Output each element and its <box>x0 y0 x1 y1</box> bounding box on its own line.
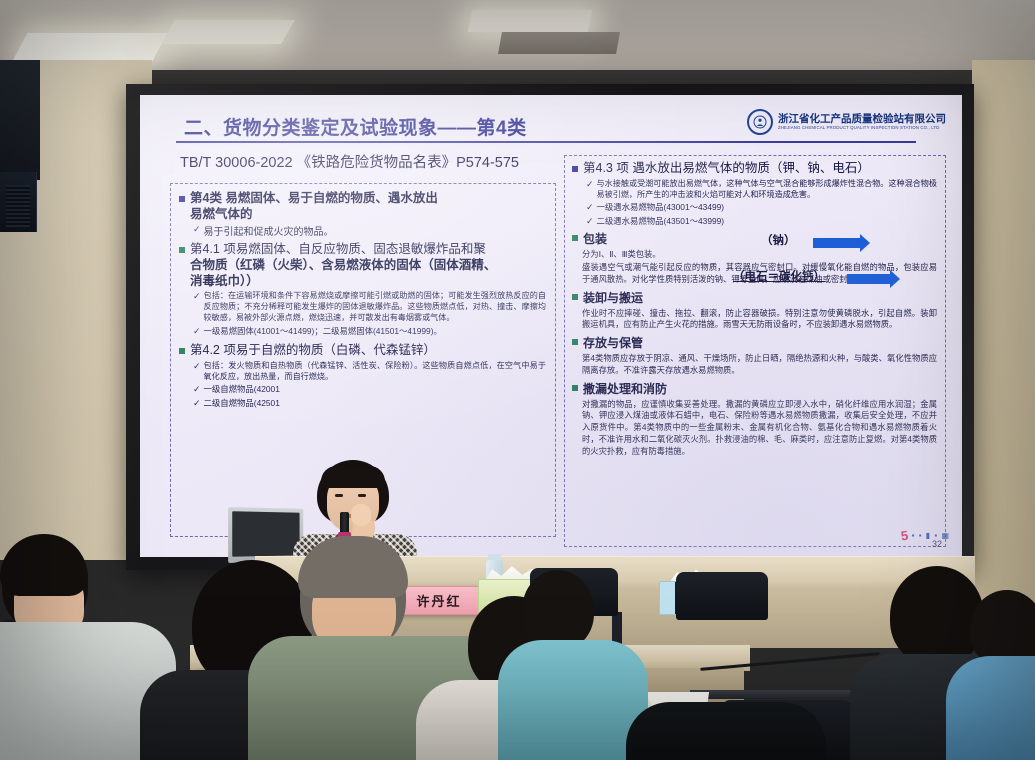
company-emblem-icon <box>747 109 773 135</box>
arrow-right-icon <box>813 238 861 248</box>
item-42-detail-row: ✓ 包括：发火物质和自热物质（代森锰锌、活性炭、保险粉）。这些物质自燃点低，在空… <box>193 360 546 382</box>
title-underline <box>176 141 916 143</box>
company-name-en: ZHEJIANG CHEMICAL PRODUCT QUALITY INSPEC… <box>778 125 946 130</box>
person-hair-grey <box>298 536 408 598</box>
spill-heading-row: 撒漏处理和消防 <box>572 380 937 397</box>
speaker-grill-icon <box>6 185 30 227</box>
presenter-hand <box>351 504 371 526</box>
item-43-code1: 一级遇水易燃物品(43001～43499) <box>597 201 725 214</box>
class4-heading-line2: 易燃气体的 <box>190 207 438 223</box>
item-41-heading-row: 第4.1 项易燃固体、自反应物质、固态退敏爆炸品和聚 合物质（红磷（火柴）、含易… <box>179 242 546 289</box>
storage-text: 第4类物质应存放于阴凉、通风、干燥场所，防止日晒，隔绝热源和火种，与酸类、氧化性… <box>582 353 937 377</box>
item-41-line2: 合物质（红磷（火柴）、含易燃液体的固体（固体酒精、 <box>190 258 496 274</box>
item-42-heading-row: 第4.2 项易于自燃的物质（白磷、代森锰锌） <box>179 343 546 359</box>
checkmark-icon: ✓ <box>586 215 594 228</box>
handling-text: 作业时不应摔碰、撞击、拖拉、翻滚，防止容器破损。特别注意勿使黄磷脱水，引起自燃。… <box>582 308 937 332</box>
item-43-detail: 与水接触或受潮可能放出易燃气体，这种气体与空气混合能够形成爆炸性混合物。这种混合… <box>597 178 937 200</box>
item-43-detail-row: ✓ 与水接触或受潮可能放出易燃气体，这种气体与空气混合能够形成爆炸性混合物。这种… <box>586 178 937 200</box>
handling-heading: 装卸与搬运 <box>583 289 643 306</box>
person-shirt-dark <box>626 702 826 760</box>
spill-heading: 撒漏处理和消防 <box>583 380 667 397</box>
classroom-photo: 二、货物分类鉴定及试验现象——第4类 浙江省化工产品质量检验站有限公司 ZHEJ… <box>0 0 1035 760</box>
item-42-heading: 第4.2 项易于自燃的物质（白磷、代森锰锌） <box>190 343 436 359</box>
audience-member <box>626 692 806 760</box>
square-bullet-icon <box>179 196 185 202</box>
item-42-code1: 一级自燃物品(42001 <box>204 383 280 396</box>
item-43-code2: 二级遇水易燃物品(43501～43999) <box>597 215 725 228</box>
checkmark-icon: ✓ <box>586 201 594 214</box>
company-name-cn: 浙江省化工产品质量检验站有限公司 <box>778 114 946 125</box>
person-head <box>522 570 594 650</box>
company-logo: 浙江省化工产品质量检验站有限公司 ZHEJIANG CHEMICAL PRODU… <box>747 109 946 135</box>
class4-heading-row: 第4类 易燃固体、易于自燃的物质、遇水放出 易燃气体的 <box>179 191 546 222</box>
checkmark-icon: ✓ <box>193 290 201 323</box>
packaging-heading-row: 包装 <box>572 230 937 247</box>
checkmark-icon: ✓ <box>193 397 201 410</box>
right-wall <box>972 60 1035 620</box>
callout-sodium: （钠） <box>761 232 796 248</box>
slide-title: 二、货物分类鉴定及试验现象——第4类 <box>184 113 604 140</box>
checkmark-icon: ✓ <box>193 223 201 238</box>
audience-member <box>960 590 1035 760</box>
ceiling-light-panel <box>161 20 295 44</box>
storage-heading: 存放与保管 <box>583 334 643 351</box>
item-41-line3: 消毒纸巾）） <box>190 274 496 290</box>
square-bullet-icon <box>572 339 578 345</box>
spill-text: 对撒漏的物品，应谨慎收集妥善处理。撒漏的黄磷应立即浸入水中，硝化纤维应用水润湿；… <box>582 399 937 458</box>
square-bullet-icon <box>179 247 185 253</box>
stamp-icons: ▪ ▪ ▮ ▪ ▦ <box>912 531 950 540</box>
square-bullet-icon <box>572 294 578 300</box>
item-43-code2-row: ✓ 二级遇水易燃物品(43501～43999) <box>586 215 937 228</box>
ceiling-light-panel <box>13 33 168 61</box>
item-41-codes: 一级易燃固体(41001～41499)；二级易燃固体(41501～41999)。 <box>204 325 442 338</box>
square-bullet-icon <box>572 235 578 241</box>
class4-note-row: ✓ 易于引起和促成火灾的物品。 <box>193 223 546 238</box>
storage-heading-row: 存放与保管 <box>572 334 937 351</box>
item-41-detail: 包括：在运输环境和条件下容易燃烧或摩擦可能引燃或助燃的固体；可能发生强烈放热反应… <box>204 290 546 323</box>
item-43-heading: 第4.3 项 遇水放出易燃气体的物质（钾、钠、电石） <box>583 161 870 177</box>
stamp-mark-icon: 5 <box>900 528 909 544</box>
handling-heading-row: 装卸与搬运 <box>572 289 937 306</box>
checkmark-icon: ✓ <box>193 383 201 396</box>
right-content-column: 第4.3 项 遇水放出易燃气体的物质（钾、钠、电石） ✓ 与水接触或受潮可能放出… <box>564 155 946 547</box>
item-42-detail: 包括：发火物质和自热物质（代森锰锌、活性炭、保险粉）。这些物质自燃点低，在空气中… <box>204 360 546 382</box>
presenter-fringe <box>321 466 385 488</box>
callout-calcium-carbide: （电石＝碳化钙） <box>733 268 825 284</box>
item-41-detail-row: ✓ 包括：在运输环境和条件下容易燃烧或摩擦可能引燃或助燃的固体；可能发生强烈放热… <box>193 290 546 323</box>
square-bullet-icon <box>179 348 185 354</box>
packaging-heading: 包装 <box>583 230 607 247</box>
person-hair <box>0 534 88 596</box>
ceiling-light-panel <box>468 10 593 32</box>
chair-back <box>676 572 768 620</box>
square-bullet-icon <box>572 385 578 391</box>
item-43-heading-row: 第4.3 项 遇水放出易燃气体的物质（钾、钠、电石） <box>572 161 937 177</box>
arrow-right-icon <box>847 274 891 284</box>
checkmark-icon: ✓ <box>193 360 201 382</box>
item-42-code1-row: ✓ 一级自燃物品(42001 <box>193 383 546 396</box>
standard-reference: TB/T 30006-2022 《铁路危险货物品名表》P574-575 <box>180 151 519 172</box>
person-shirt-blue <box>946 656 1035 760</box>
ceiling-vent <box>498 32 620 54</box>
presenter-eye <box>335 494 343 497</box>
checkmark-icon: ✓ <box>586 178 594 200</box>
wall-dark-panel <box>0 60 40 180</box>
item-41-line1: 第4.1 项易燃固体、自反应物质、固态退敏爆炸品和聚 <box>190 242 496 258</box>
presenter-eye <box>358 494 366 497</box>
item-41-codes-row: ✓ 一级易燃固体(41001～41499)；二级易燃固体(41501～41999… <box>193 325 546 338</box>
square-bullet-icon <box>572 166 578 172</box>
audience-member <box>508 570 638 760</box>
audience-member <box>0 536 160 760</box>
projection-screen: 二、货物分类鉴定及试验现象——第4类 浙江省化工产品质量检验站有限公司 ZHEJ… <box>140 95 962 557</box>
slide-canvas: 二、货物分类鉴定及试验现象——第4类 浙江省化工产品质量检验站有限公司 ZHEJ… <box>140 95 962 557</box>
checkmark-icon: ✓ <box>193 325 201 338</box>
item-42-code2-row: ✓ 二级自燃物品(42501 <box>193 397 546 410</box>
class4-note: 易于引起和促成火灾的物品。 <box>204 223 334 238</box>
item-43-code1-row: ✓ 一级遇水易燃物品(43001～43499) <box>586 201 937 214</box>
class4-heading-line1: 第4类 易燃固体、易于自燃的物质、遇水放出 <box>190 191 438 207</box>
packaging-line1: 分为Ⅰ、Ⅱ、Ⅲ类包装。 <box>582 249 937 261</box>
watermark-stamp: 5 ▪ ▪ ▮ ▪ ▦ <box>901 528 950 543</box>
item-42-code2: 二级自燃物品(42501 <box>204 397 280 410</box>
